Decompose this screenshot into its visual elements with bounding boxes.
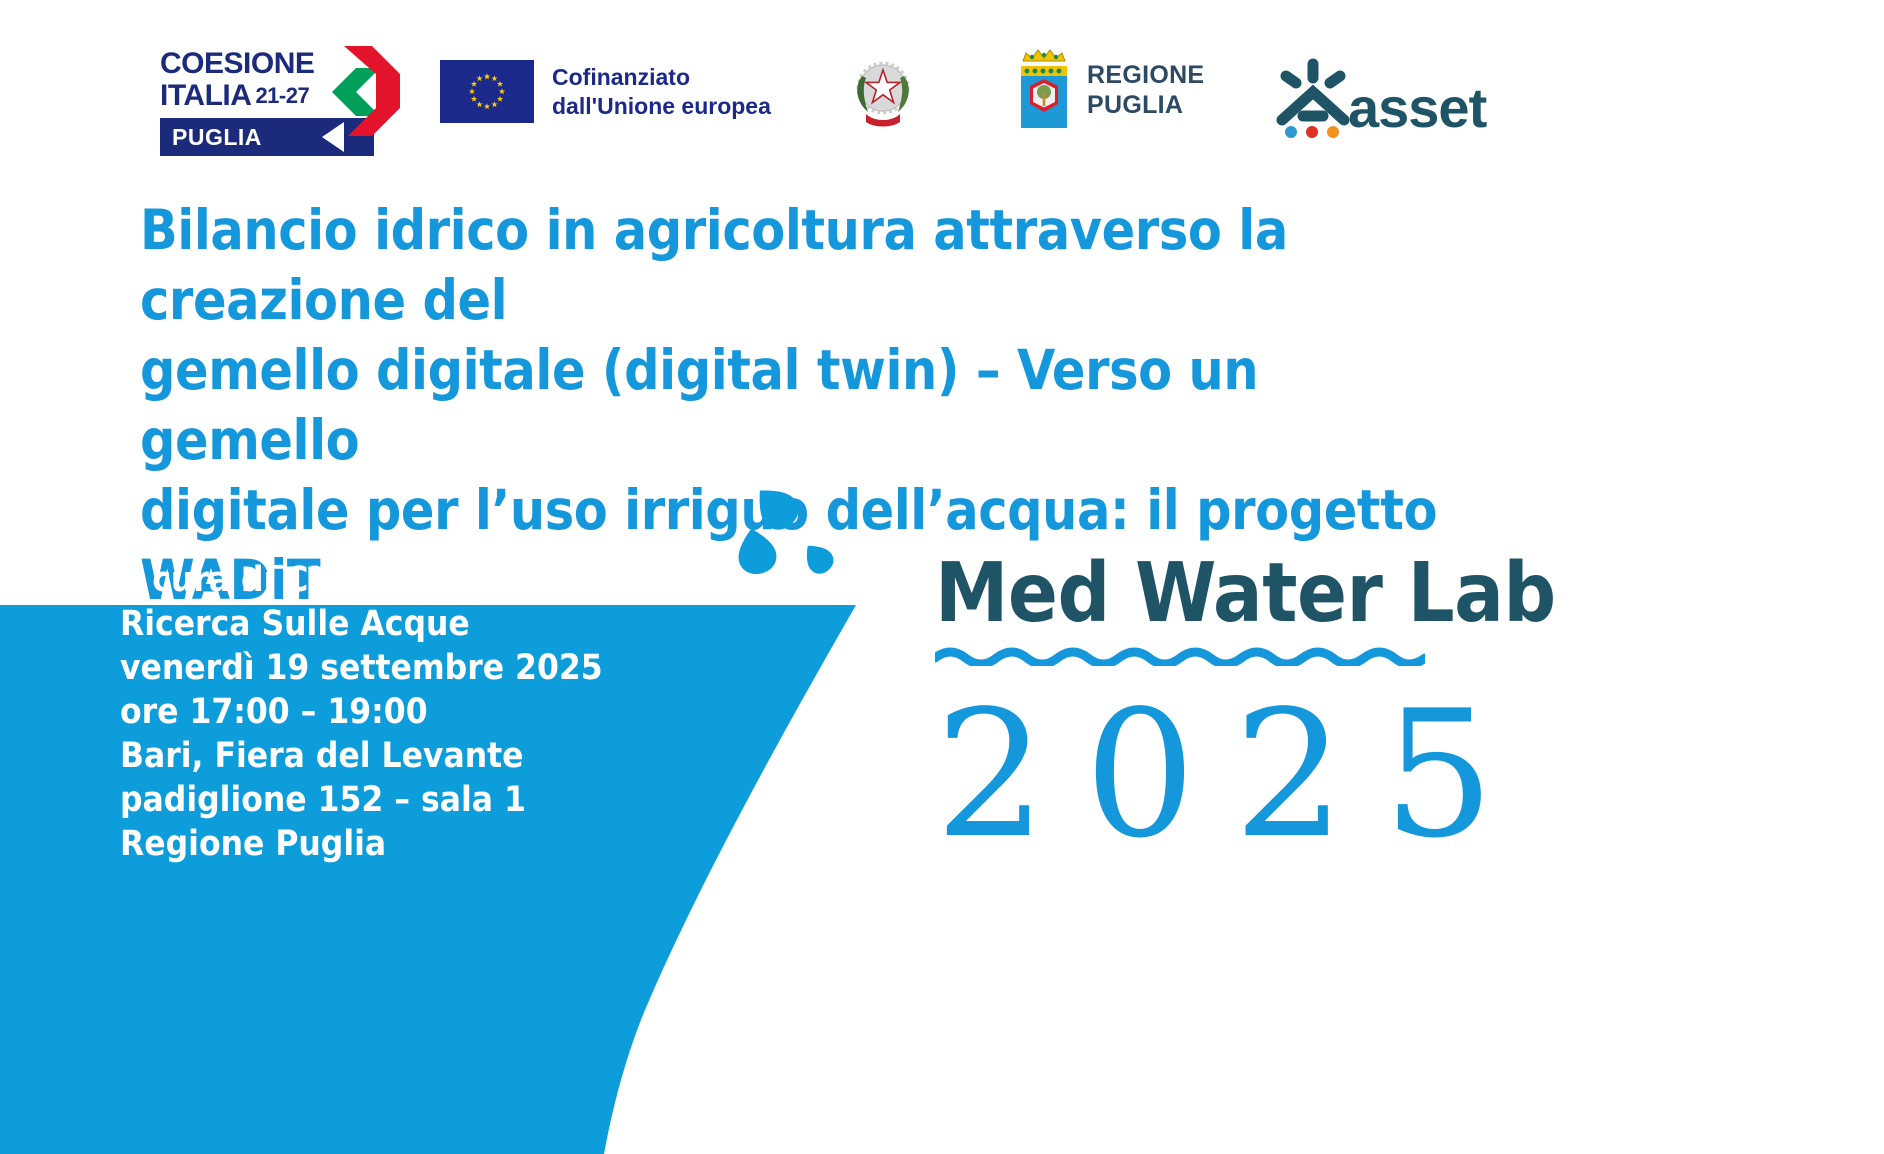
event-time: ore 17:00 – 19:00 — [120, 690, 640, 734]
brand-year: 2025 — [935, 688, 1435, 863]
venue-line3: Regione Puglia — [120, 822, 640, 866]
water-droplets-decoration — [715, 480, 845, 590]
droplet-icon — [798, 537, 838, 578]
brand-name: Med Water Lab — [935, 548, 1435, 640]
poster-canvas: COESIONE ITALIA21-27 PUGLIA — [0, 0, 1884, 1154]
event-details: a cura di CNR – Istituto di Ricerca Sull… — [120, 558, 640, 866]
organizer-line1: a cura di CNR – Istituto di — [120, 558, 640, 602]
wave-underline-icon — [935, 644, 1425, 666]
droplet-icon — [746, 480, 805, 537]
droplet-icon — [732, 524, 780, 578]
event-date: venerdì 19 settembre 2025 — [120, 646, 640, 690]
organizer-line2: Ricerca Sulle Acque — [120, 602, 640, 646]
venue-line2: padiglione 152 – sala 1 — [120, 778, 640, 822]
med-water-lab-branding: Med Water Lab 2025 — [935, 548, 1435, 863]
venue-line1: Bari, Fiera del Levante — [120, 734, 640, 778]
